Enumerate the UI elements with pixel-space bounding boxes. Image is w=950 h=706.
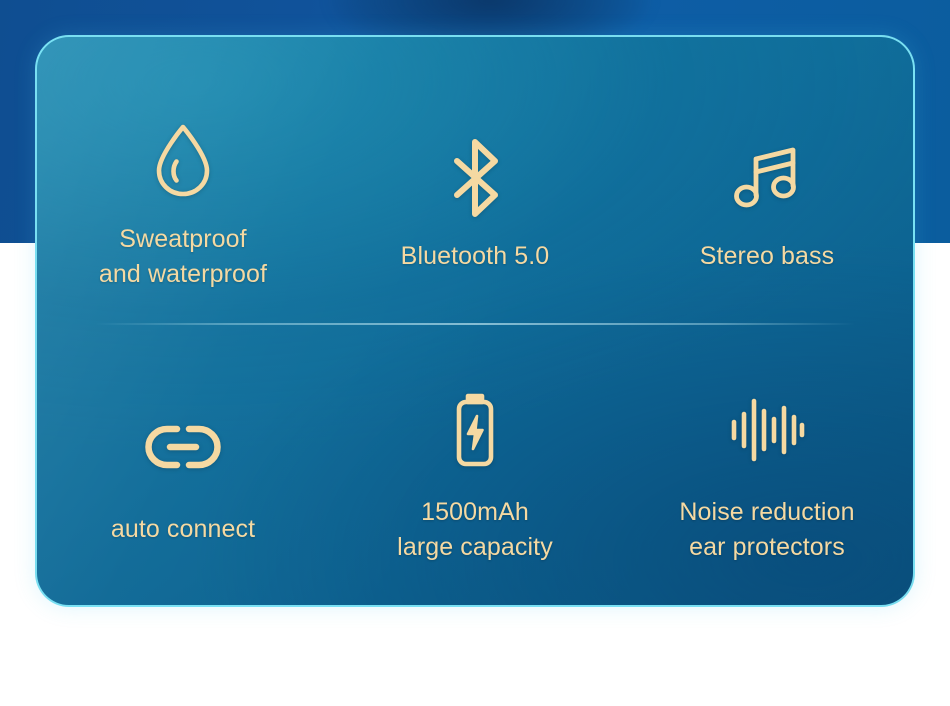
feature-card: Sweatproof and waterproof Bluetooth 5.0 — [35, 35, 915, 607]
sound-wave-icon — [729, 387, 805, 473]
battery-charging-icon — [451, 387, 499, 473]
feature-label: 1500mAh large capacity — [397, 495, 553, 566]
feature-label: Stereo bass — [700, 239, 835, 275]
feature-item-auto-connect: auto connect — [37, 378, 329, 548]
feature-item-noise-reduction: Noise reduction ear protectors — [621, 361, 913, 566]
feature-item-bluetooth: Bluetooth 5.0 — [329, 83, 621, 275]
bluetooth-icon — [444, 135, 506, 221]
feature-label: auto connect — [111, 512, 255, 548]
feature-label: Bluetooth 5.0 — [401, 239, 550, 275]
link-chain-icon — [143, 404, 223, 490]
feature-item-battery: 1500mAh large capacity — [329, 361, 621, 566]
feature-grid: Sweatproof and waterproof Bluetooth 5.0 — [37, 37, 913, 605]
feature-label: Noise reduction ear protectors — [679, 495, 854, 566]
water-drop-icon — [150, 118, 216, 204]
feature-label: Sweatproof and waterproof — [99, 222, 267, 293]
feature-row-bottom: auto connect 1500mAh large capacity — [37, 321, 913, 605]
music-note-icon — [730, 135, 804, 221]
feature-item-stereo-bass: Stereo bass — [621, 83, 913, 275]
feature-row-top: Sweatproof and waterproof Bluetooth 5.0 — [37, 37, 913, 321]
feature-item-sweatproof: Sweatproof and waterproof — [37, 66, 329, 293]
feature-card-banner: Sweatproof and waterproof Bluetooth 5.0 — [0, 0, 950, 706]
